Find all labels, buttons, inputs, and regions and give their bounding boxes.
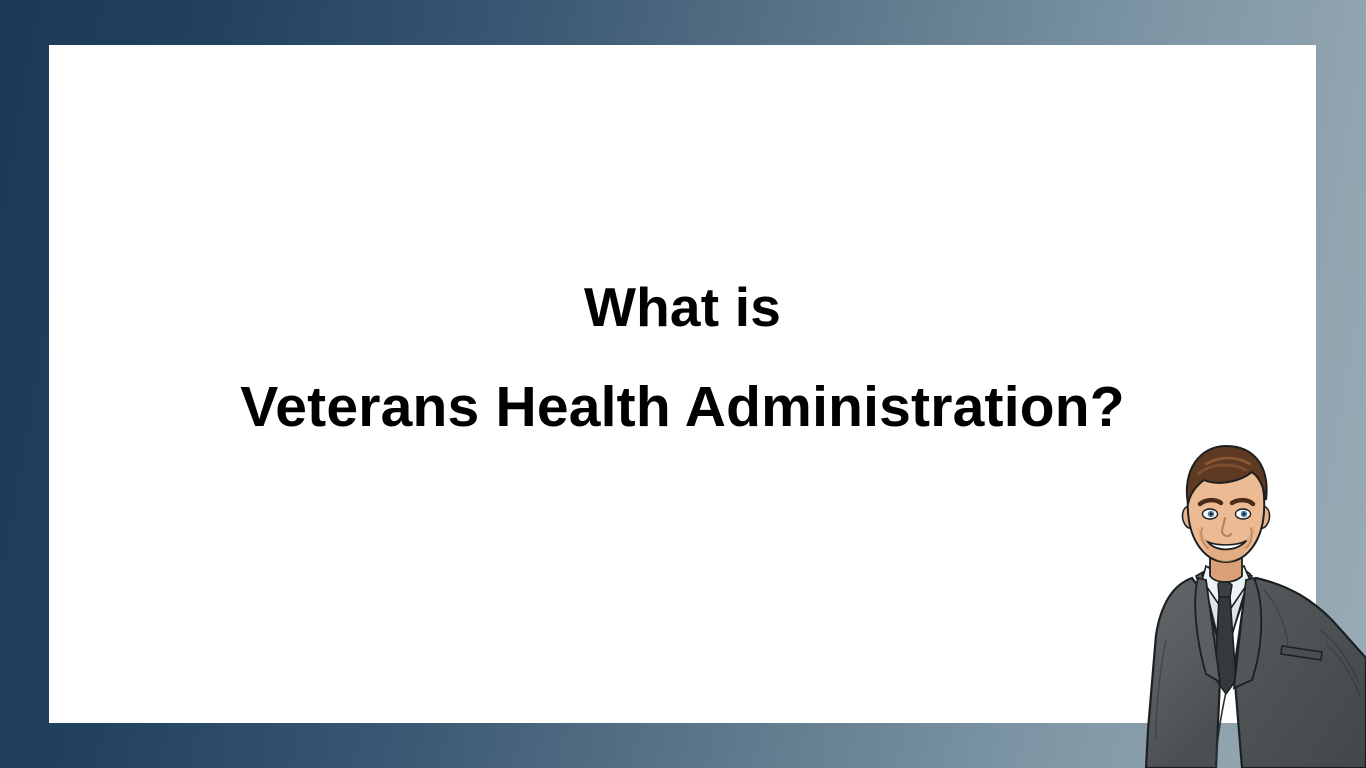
head xyxy=(1183,446,1270,562)
title-block: What is Veterans Health Administration? xyxy=(49,270,1316,444)
slide-root: What is Veterans Health Administration? xyxy=(0,0,1366,768)
title-line-one: What is xyxy=(49,270,1316,344)
businessman-illustration xyxy=(1020,430,1366,768)
